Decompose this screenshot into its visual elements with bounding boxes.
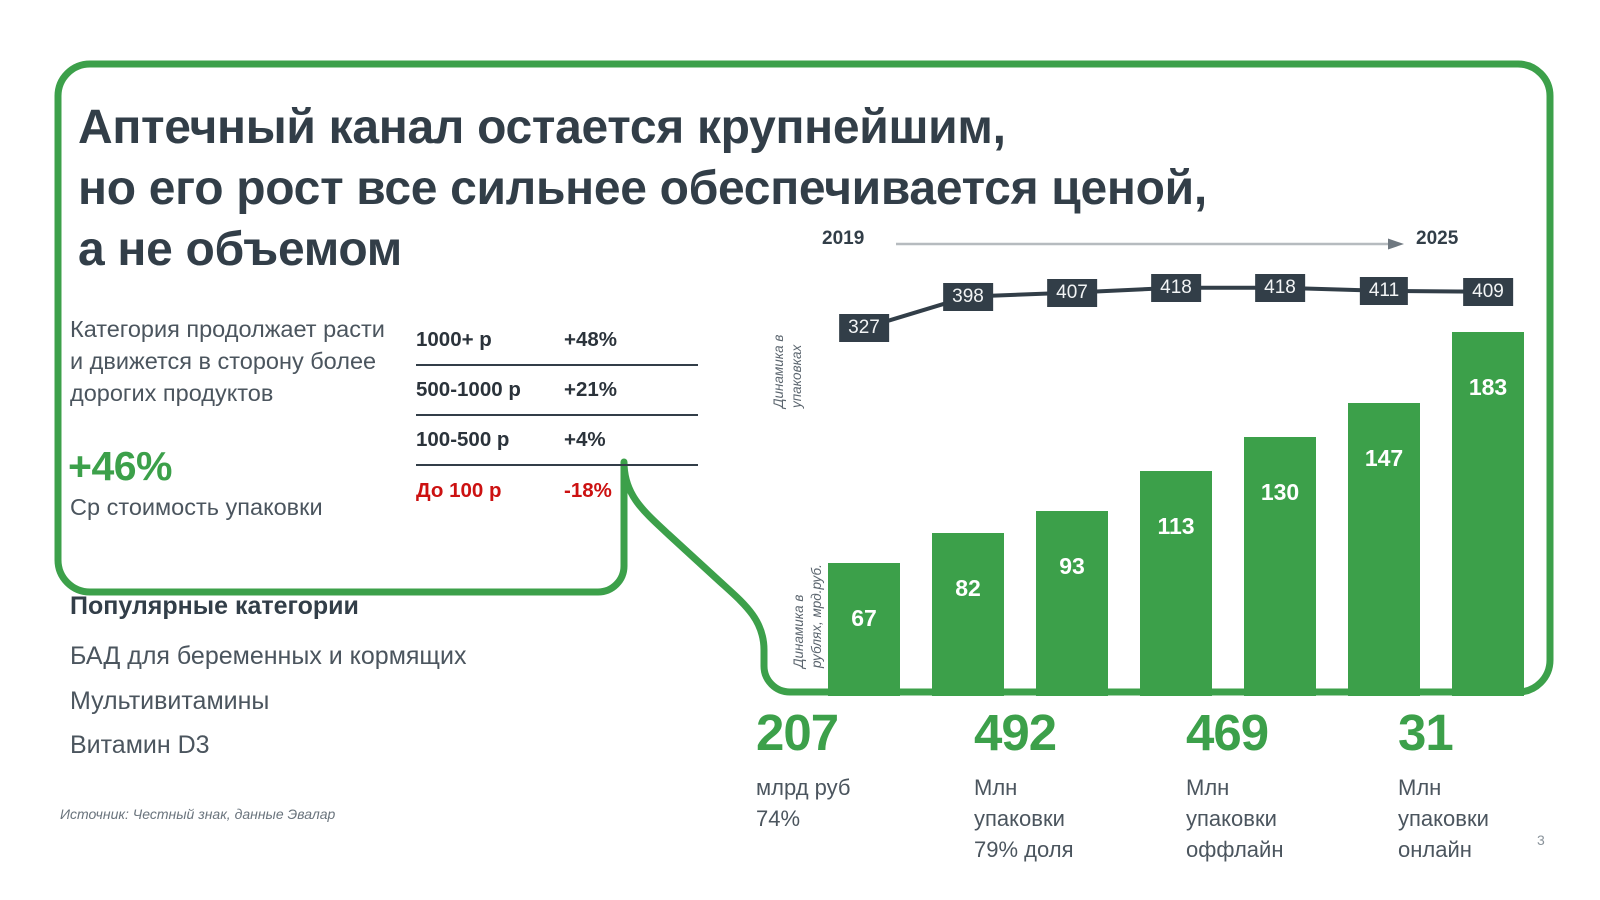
y-axis-label-rubles-line2: рублях, мрд.руб. bbox=[808, 564, 826, 668]
bar-value-label: 183 bbox=[1452, 374, 1524, 401]
price-band-table: 1000+ р +48% 500-1000 р +21% 100-500 р +… bbox=[416, 316, 698, 516]
kpi-card: 207 млрд руб 74% bbox=[756, 707, 976, 834]
title-line-2: но его рост все сильнее обеспечивается ц… bbox=[78, 159, 1418, 220]
avg-price-growth-caption: Ср стоимость упаковки bbox=[70, 492, 410, 524]
table-row: 100-500 р +4% bbox=[416, 416, 698, 466]
lead-paragraph: Категория продолжает расти и движется в … bbox=[70, 313, 400, 410]
price-band-value: -18% bbox=[564, 479, 698, 503]
price-band-value: +4% bbox=[564, 428, 698, 452]
kpi-value: 31 bbox=[1398, 707, 1600, 758]
slide: Аптечный канал остается крупнейшим, но е… bbox=[0, 0, 1600, 900]
bar: 130 bbox=[1244, 437, 1316, 696]
price-band-value: +21% bbox=[564, 378, 698, 402]
list-item: Витамин D3 bbox=[70, 723, 466, 768]
price-band-name: 500-1000 р bbox=[416, 378, 564, 402]
bar-value-label: 93 bbox=[1036, 553, 1108, 580]
table-row: До 100 р -18% bbox=[416, 466, 698, 516]
kpi-value: 207 bbox=[756, 707, 976, 758]
kpi-description: млрд руб 74% bbox=[756, 772, 976, 834]
kpi-description: Млн упаковки онлайн bbox=[1398, 772, 1600, 866]
y-axis-label-rubles-line1: Динамика в bbox=[790, 564, 808, 668]
source-note: Источник: Честный знак, данные Эвалар bbox=[60, 806, 335, 822]
bar: 113 bbox=[1140, 471, 1212, 696]
popular-categories-heading: Популярные категории bbox=[70, 592, 359, 621]
page-number: 3 bbox=[1537, 832, 1545, 848]
y-axis-label-rubles: Динамика в рублях, мрд.руб. bbox=[790, 564, 825, 668]
price-band-name: 100-500 р bbox=[416, 428, 564, 452]
kpi-card: 469 Млн упаковки оффлайн bbox=[1186, 707, 1406, 866]
kpi-description: Млн упаковки оффлайн bbox=[1186, 772, 1406, 866]
kpi-card: 31 Млн упаковки онлайн bbox=[1398, 707, 1600, 866]
kpi-card: 492 Млн упаковки 79% доля bbox=[974, 707, 1194, 866]
bar-value-label: 130 bbox=[1244, 479, 1316, 506]
list-item: БАД для беременных и кормящих bbox=[70, 634, 466, 679]
title-line-1: Аптечный канал остается крупнейшим, bbox=[78, 98, 1418, 159]
kpi-value: 492 bbox=[974, 707, 1194, 758]
avg-price-growth-value: +46% bbox=[68, 443, 172, 490]
combo-chart: 2019 2025 Динамика в упаковках Динамика … bbox=[748, 228, 1560, 698]
bar-value-label: 67 bbox=[828, 605, 900, 632]
list-item: Мультивитамины bbox=[70, 679, 466, 724]
bar-value-label: 113 bbox=[1140, 513, 1212, 540]
price-band-value: +48% bbox=[564, 328, 698, 352]
rubles-bar-series: 678293113130147183 bbox=[828, 298, 1526, 696]
kpi-description: Млн упаковки 79% доля bbox=[974, 772, 1194, 866]
price-band-name: 1000+ р bbox=[416, 328, 564, 352]
bar: 82 bbox=[932, 533, 1004, 696]
price-band-name: До 100 р bbox=[416, 479, 564, 503]
bar: 67 bbox=[828, 563, 900, 696]
table-row: 1000+ р +48% bbox=[416, 316, 698, 366]
bar-value-label: 82 bbox=[932, 575, 1004, 602]
bar: 147 bbox=[1348, 403, 1420, 696]
bar-value-label: 147 bbox=[1348, 445, 1420, 472]
bar: 93 bbox=[1036, 511, 1108, 696]
table-row: 500-1000 р +21% bbox=[416, 366, 698, 416]
bar: 183 bbox=[1452, 332, 1524, 696]
popular-categories-list: БАД для беременных и кормящих Мультивита… bbox=[70, 634, 466, 768]
kpi-value: 469 bbox=[1186, 707, 1406, 758]
